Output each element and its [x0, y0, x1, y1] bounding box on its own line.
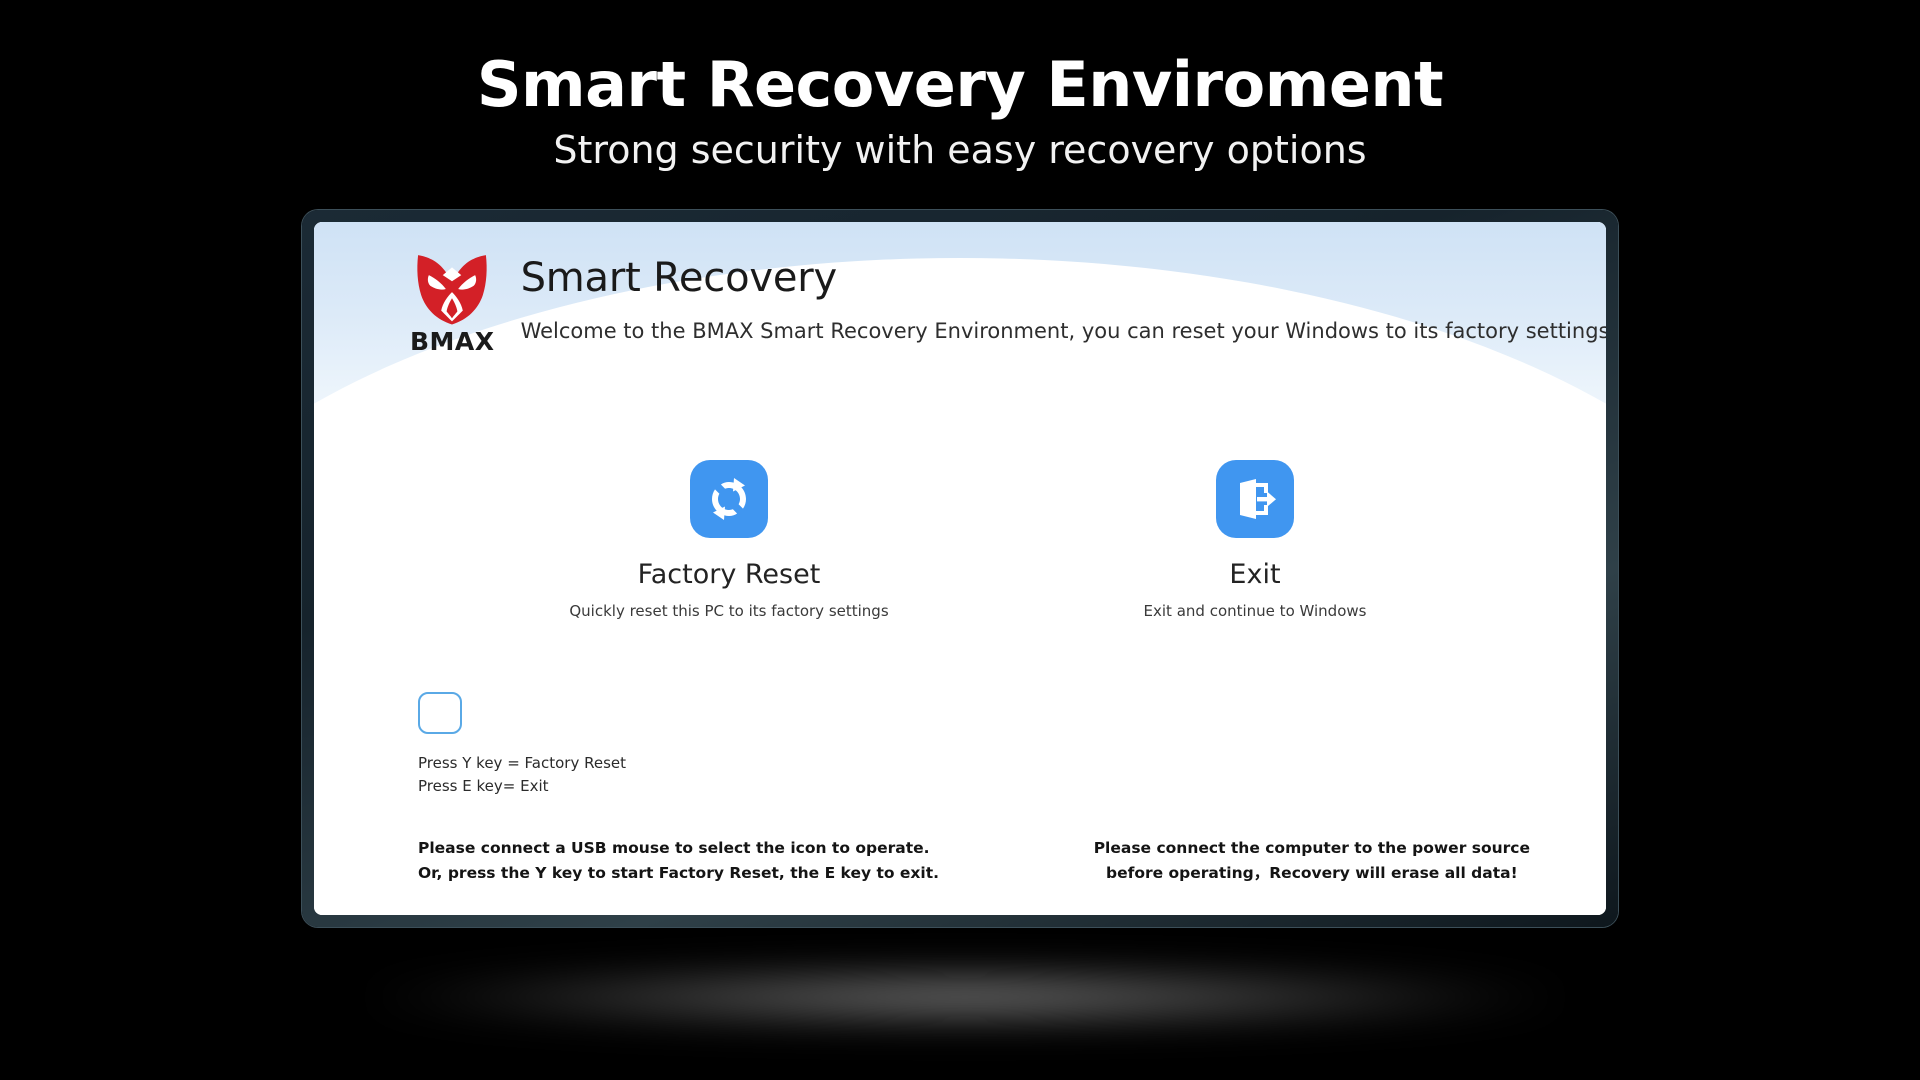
app-title: Smart Recovery: [521, 256, 1606, 300]
footer-note-line: before operating，Recovery will erase all…: [1094, 861, 1530, 887]
action-description: Exit and continue to Windows: [1144, 602, 1367, 620]
app-header: BMAX Smart Recovery Welcome to the BMAX …: [314, 222, 1606, 354]
brand-wordmark-accent: X: [475, 327, 495, 356]
action-label: Exit: [1229, 560, 1280, 590]
refresh-circular-arrows-icon[interactable]: [690, 460, 768, 538]
footer-note-line: Please connect a USB mouse to select the…: [418, 836, 939, 862]
header-text-block: Smart Recovery Welcome to the BMAX Smart…: [521, 248, 1606, 345]
footer-note-line: Please connect the computer to the power…: [1094, 836, 1530, 862]
recovery-app-window: BMAX Smart Recovery Welcome to the BMAX …: [314, 222, 1606, 915]
monitor-bezel: BMAX Smart Recovery Welcome to the BMAX …: [302, 210, 1618, 927]
page-title: Smart Recovery Enviroment: [0, 52, 1920, 117]
brand-wordmark-main: BMA: [410, 327, 475, 356]
brand-logo: BMAX: [410, 248, 495, 354]
monitor-screen: BMAX Smart Recovery Welcome to the BMAX …: [314, 222, 1606, 915]
footer-note-power: Please connect the computer to the power…: [1094, 836, 1530, 887]
exit-door-arrow-icon[interactable]: [1216, 460, 1294, 538]
app-welcome-message: Welcome to the BMAX Smart Recovery Envir…: [521, 318, 1606, 345]
action-factory-reset[interactable]: Factory Reset Quickly reset this PC to i…: [614, 460, 844, 620]
monitor-base-reflection: [372, 966, 1558, 1028]
page-subtitle: Strong security with easy recovery optio…: [0, 127, 1920, 175]
page-root: Smart Recovery Enviroment Strong securit…: [0, 0, 1920, 1080]
action-description: Quickly reset this PC to its factory set…: [569, 602, 888, 620]
key-hints: Press Y key = Factory Reset Press E key=…: [418, 752, 938, 799]
action-tiles: Factory Reset Quickly reset this PC to i…: [314, 460, 1606, 620]
bmax-fox-head-logo-icon: [413, 252, 491, 326]
key-hint-line: Press Y key = Factory Reset: [418, 752, 938, 775]
key-input[interactable]: [418, 692, 462, 734]
brand-wordmark: BMAX: [410, 329, 495, 354]
footer-note-mouse: Please connect a USB mouse to select the…: [418, 836, 939, 887]
key-entry-area: Press Y key = Factory Reset Press E key=…: [418, 692, 938, 799]
hero-section: Smart Recovery Enviroment Strong securit…: [0, 52, 1920, 175]
key-hint-line: Press E key= Exit: [418, 775, 938, 798]
action-label: Factory Reset: [638, 560, 821, 590]
footer-note-line: Or, press the Y key to start Factory Res…: [418, 861, 939, 887]
action-exit[interactable]: Exit Exit and continue to Windows: [1140, 460, 1370, 620]
footer-notices: Please connect a USB mouse to select the…: [314, 836, 1606, 887]
